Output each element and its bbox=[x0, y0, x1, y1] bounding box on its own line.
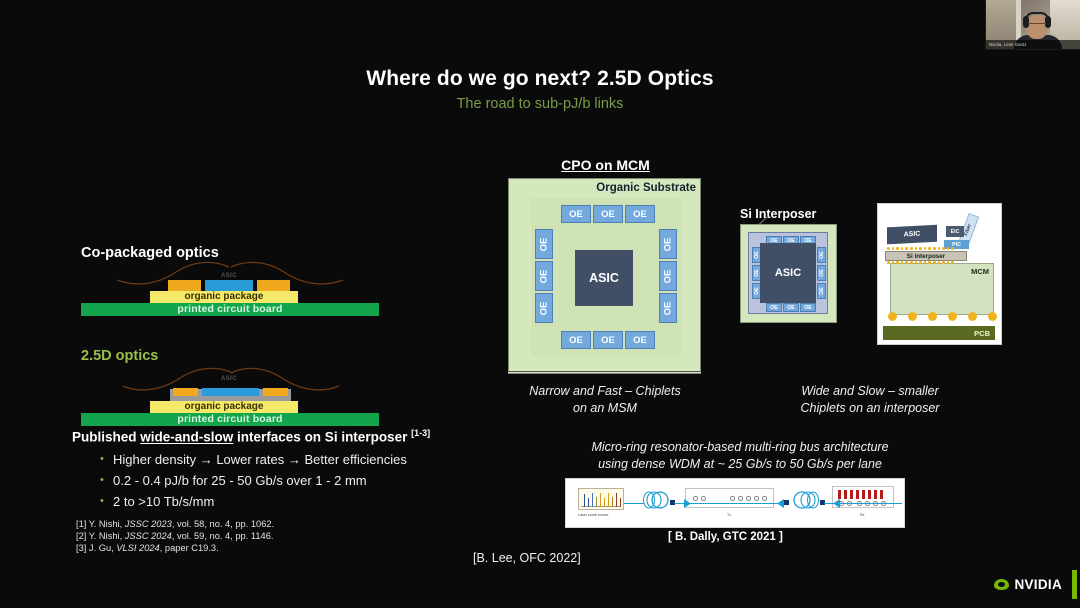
arrow-right-icon bbox=[684, 499, 692, 508]
oe-block: OE bbox=[659, 293, 677, 323]
microbump bbox=[919, 247, 922, 250]
solder-ball-row bbox=[888, 312, 997, 321]
microbump bbox=[933, 247, 936, 250]
oe-label: OE bbox=[538, 301, 549, 315]
list-item: [1] Y. Nishi, JSSC 2023, vol. 58, no. 4,… bbox=[76, 519, 274, 531]
solder-ball bbox=[928, 312, 937, 321]
published-heading-post: interfaces on Si interposer bbox=[233, 430, 411, 445]
copackaged-optics-diagram: ASIC organic package printed circuit boa… bbox=[81, 258, 379, 306]
nvidia-wordmark: NVIDIA bbox=[1014, 577, 1062, 592]
microbump bbox=[924, 261, 927, 264]
interposer-caption: Wide and Slow – smaller Chiplets on an i… bbox=[770, 383, 970, 416]
ring-resonator bbox=[746, 496, 751, 501]
ring-resonator bbox=[693, 496, 698, 501]
oe-block: OE bbox=[817, 247, 826, 263]
oe-block: OE bbox=[817, 283, 826, 299]
oe-block-right bbox=[257, 280, 290, 291]
microbump bbox=[892, 247, 895, 250]
cpo-caption: Narrow and Fast – Chiplets on an MSM bbox=[505, 383, 705, 416]
slide-root: Nvidia, Leon Gantz Where do we go next? … bbox=[0, 0, 1080, 608]
rx-label: Rx bbox=[860, 513, 864, 517]
modulator-bar bbox=[880, 490, 883, 499]
laser-comb-source-block bbox=[578, 488, 624, 510]
microbump bbox=[887, 261, 890, 264]
ref-venue: VLSI 2024 bbox=[116, 543, 159, 553]
microbump bbox=[928, 247, 931, 250]
ref-author: J. Gu, bbox=[89, 543, 116, 553]
accent-bar bbox=[1072, 570, 1077, 599]
solder-ball bbox=[948, 312, 957, 321]
microbump bbox=[951, 261, 954, 264]
oe-label: OE bbox=[662, 237, 673, 251]
microbump bbox=[928, 261, 931, 264]
comb-tick bbox=[616, 493, 617, 507]
mcm-asic-block: ASIC bbox=[887, 225, 937, 245]
ref-num: [2] bbox=[76, 531, 89, 541]
tx-label: Tx bbox=[727, 513, 731, 517]
microbump bbox=[947, 261, 950, 264]
oe-block: OE bbox=[800, 303, 816, 312]
webcam-name-label: Nvidia, Leon Gantz bbox=[986, 40, 1080, 49]
modulator-bar bbox=[838, 490, 841, 499]
oe-block: OE bbox=[625, 205, 655, 223]
laser-comb-source-label: Laser comb source bbox=[578, 513, 609, 517]
published-heading-pre: Published bbox=[72, 430, 140, 445]
asic-faint-label-2: ASIC bbox=[209, 376, 249, 382]
microbump bbox=[910, 261, 913, 264]
cpo-on-mcm-title: CPO on MCM bbox=[508, 157, 703, 173]
nvidia-eye-icon bbox=[994, 579, 1009, 590]
list-item: [3] J. Gu, VLSI 2024, paper C19.3. bbox=[76, 543, 274, 555]
microbump bbox=[938, 261, 941, 264]
solder-ball bbox=[968, 312, 977, 321]
oe-block: OE bbox=[535, 229, 553, 259]
cpo-asic-block: ASIC bbox=[575, 250, 633, 306]
modulator-bar bbox=[856, 490, 859, 499]
pic-block bbox=[205, 280, 253, 291]
oe-block: OE bbox=[766, 303, 782, 312]
glasses-icon bbox=[1028, 23, 1046, 28]
webcam-overlay[interactable]: Nvidia, Leon Gantz bbox=[985, 0, 1080, 50]
ref-author: Y. Nishi, bbox=[89, 519, 125, 529]
microbump bbox=[942, 261, 945, 264]
credit-dally: [ B. Dally, GTC 2021 ] bbox=[668, 531, 783, 543]
ring-resonator bbox=[730, 496, 735, 501]
organic-package-layer-2: organic package bbox=[150, 401, 298, 413]
reference-list: [1] Y. Nishi, JSSC 2023, vol. 58, no. 4,… bbox=[76, 519, 274, 554]
ref-venue: JSSC 2024 bbox=[125, 531, 172, 541]
arrow-left-icon bbox=[776, 499, 784, 508]
mcm-substrate-layer: MCM bbox=[890, 263, 994, 315]
pic-block-2 bbox=[202, 388, 259, 396]
microbump bbox=[887, 247, 890, 250]
coupler-node-2 bbox=[784, 500, 789, 505]
comb-tick bbox=[612, 497, 613, 507]
oe-block-left bbox=[168, 280, 201, 291]
comb-tick bbox=[596, 497, 597, 507]
oe-label: OE bbox=[754, 251, 760, 259]
mcm-eic-block: EIC bbox=[946, 226, 964, 237]
credit-lee: [B. Lee, OFC 2022] bbox=[473, 551, 581, 565]
si-interposer-asic-block: ASIC bbox=[760, 243, 816, 303]
ref-venue: JSSC 2023 bbox=[125, 519, 172, 529]
comb-tick bbox=[608, 493, 609, 507]
arrow-left-icon-2 bbox=[832, 499, 840, 508]
fiber-coil-icon-2 bbox=[792, 491, 820, 509]
solder-ball bbox=[888, 312, 897, 321]
oe-block: OE bbox=[659, 261, 677, 291]
ref-rest: , vol. 59, no. 4, pp. 1146. bbox=[172, 531, 274, 541]
microring-architecture-diagram: Laser comb source Tx bbox=[565, 478, 905, 528]
organic-substrate-label: Organic Substrate bbox=[596, 182, 696, 194]
microbump bbox=[924, 247, 927, 250]
printed-circuit-board-layer: printed circuit board bbox=[81, 303, 379, 316]
microbump bbox=[938, 247, 941, 250]
cpo-baseline-rule bbox=[508, 371, 701, 374]
mcm-label: MCM bbox=[971, 267, 989, 276]
solder-ball bbox=[988, 312, 997, 321]
microring-description: Micro-ring resonator-based multi-ring bu… bbox=[540, 439, 940, 472]
nvidia-logo: NVIDIA bbox=[994, 577, 1062, 592]
solder-ball bbox=[908, 312, 917, 321]
ring-resonator bbox=[738, 496, 743, 501]
fiber-coil-icon bbox=[642, 491, 670, 509]
oe-label: OE bbox=[819, 287, 825, 295]
tx-chip-block bbox=[685, 488, 774, 508]
modulator-bar bbox=[868, 490, 871, 499]
comb-tick bbox=[600, 493, 601, 507]
oe-label: OE bbox=[662, 301, 673, 315]
oe-block: OE bbox=[593, 331, 623, 349]
asic-faint-label: ASIC bbox=[209, 273, 249, 279]
ring-resonator bbox=[754, 496, 759, 501]
fiber-label: Fiber bbox=[964, 223, 974, 237]
oe-block: OE bbox=[535, 293, 553, 323]
oe-label: OE bbox=[754, 287, 760, 295]
mcm-pcb-layer: PCB bbox=[883, 326, 995, 340]
twofived-optics-diagram: ASIC organic package printed circuit boa… bbox=[81, 362, 379, 412]
comb-tick bbox=[584, 494, 585, 507]
oe-block: OE bbox=[659, 229, 677, 259]
oe-block: OE bbox=[561, 331, 591, 349]
microbump-row-top bbox=[887, 247, 954, 250]
oe-block-right-2 bbox=[263, 388, 288, 396]
list-item: [2] Y. Nishi, JSSC 2024, vol. 59, no. 4,… bbox=[76, 531, 274, 543]
microbump bbox=[947, 247, 950, 250]
microbump bbox=[951, 247, 954, 250]
rx-chip-block bbox=[832, 486, 894, 508]
oe-label: OE bbox=[819, 251, 825, 259]
oe-block: OE bbox=[535, 261, 553, 291]
comb-tick bbox=[604, 498, 605, 507]
microbump-row-bottom bbox=[887, 261, 954, 264]
microbump bbox=[942, 247, 945, 250]
microbump bbox=[915, 247, 918, 250]
microbump bbox=[905, 261, 908, 264]
microbump bbox=[896, 247, 899, 250]
ring-resonator bbox=[701, 496, 706, 501]
oe-block-left-2 bbox=[173, 388, 198, 396]
published-heading: Published wide-and-slow interfaces on Si… bbox=[72, 428, 430, 445]
ref-num: [3] bbox=[76, 543, 89, 553]
oe-block: OE bbox=[783, 303, 799, 312]
printed-circuit-board-layer-2: printed circuit board bbox=[81, 413, 379, 426]
modulator-bar bbox=[874, 490, 877, 499]
microbump bbox=[892, 261, 895, 264]
oe-label: OE bbox=[538, 269, 549, 283]
ring-resonator bbox=[762, 496, 767, 501]
page-title: Where do we go next? 2.5D Optics bbox=[0, 67, 1080, 91]
modulator-bar bbox=[850, 490, 853, 499]
oe-block: OE bbox=[561, 205, 591, 223]
oe-block: OE bbox=[625, 331, 655, 349]
page-subtitle: The road to sub-pJ/b links bbox=[0, 96, 1080, 112]
list-item: Higher density → Lower rates → Better ef… bbox=[100, 449, 407, 470]
waveguide-line-1 bbox=[624, 503, 644, 504]
published-heading-underline: wide-and-slow bbox=[140, 430, 233, 445]
oe-block: OE bbox=[817, 265, 826, 281]
modulator-bar bbox=[862, 490, 865, 499]
comb-tick bbox=[620, 498, 621, 507]
microbump bbox=[933, 261, 936, 264]
microbump bbox=[901, 261, 904, 264]
ref-author: Y. Nishi, bbox=[89, 531, 125, 541]
ref-rest: , vol. 58, no. 4, pp. 1062. bbox=[172, 519, 274, 529]
oe-label: OE bbox=[754, 269, 760, 277]
comb-tick bbox=[588, 498, 589, 507]
microbump bbox=[919, 261, 922, 264]
ref-num: [1] bbox=[76, 519, 89, 529]
organic-package-layer: organic package bbox=[150, 291, 298, 303]
modulator-bar bbox=[844, 490, 847, 499]
oe-block: OE bbox=[593, 205, 623, 223]
microbump bbox=[896, 261, 899, 264]
list-item: 0.2 - 0.4 pJ/b for 25 - 50 Gb/s over 1 -… bbox=[100, 470, 407, 491]
ref-rest: , paper C19.3. bbox=[160, 543, 219, 553]
list-item: 2 to >10 Tb/s/mm bbox=[100, 491, 407, 512]
comb-tick bbox=[592, 493, 593, 507]
mcm-cross-section-diagram: MCM Fiber ASIC EIC PIC Si interposer PCB bbox=[877, 203, 1002, 345]
published-bullet-list: Higher density → Lower rates → Better ef… bbox=[100, 449, 407, 512]
oe-label: OE bbox=[662, 269, 673, 283]
oe-label: OE bbox=[538, 237, 549, 251]
microbump bbox=[910, 247, 913, 250]
mcm-si-interposer-layer: Si interposer bbox=[885, 251, 967, 261]
oe-label: OE bbox=[819, 269, 825, 277]
comb-axis bbox=[581, 506, 621, 507]
microbump bbox=[905, 247, 908, 250]
microbump bbox=[901, 247, 904, 250]
microbump bbox=[915, 261, 918, 264]
published-heading-ref: [1-3] bbox=[411, 428, 430, 438]
